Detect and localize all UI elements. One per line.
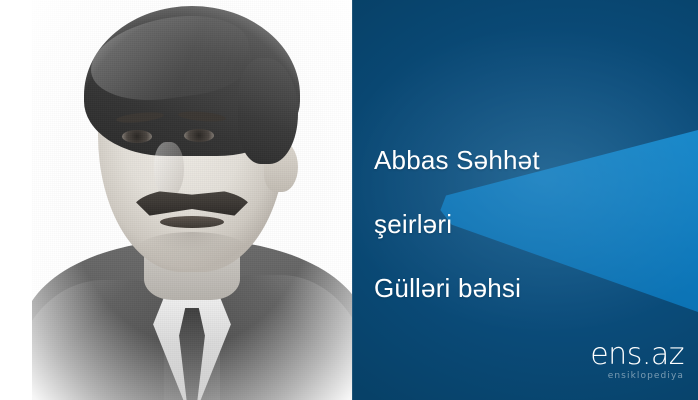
portrait-shoulder-left [32,280,164,400]
title-line-1: Abbas Səhhət [374,128,674,192]
title-line-2: şeirləri [374,192,674,256]
portrait-eye-left [122,130,152,143]
portrait-shoulder-right [220,275,352,400]
site-logo[interactable]: ens.az ensiklopediya [590,340,684,382]
portrait-photo [32,0,352,400]
logo-wordmark: ens.az [590,340,684,370]
article-card: Abbas Səhhət şeirləri Gülləri bəhsi ens.… [0,0,698,400]
panel-left-edge [352,0,353,400]
portrait-eye-right [184,129,214,142]
portrait-chin-shadow [137,232,247,266]
portrait-mouth [160,216,224,228]
title-line-3: Gülləri bəhsi [374,256,674,320]
page-title: Abbas Səhhət şeirləri Gülləri bəhsi [374,128,674,320]
photo-panel [0,0,352,400]
title-panel: Abbas Səhhət şeirləri Gülləri bəhsi ens.… [352,0,698,400]
portrait-hair-side [238,58,298,164]
portrait-nose [154,142,184,198]
logo-subtitle: ensiklopediya [590,371,684,382]
